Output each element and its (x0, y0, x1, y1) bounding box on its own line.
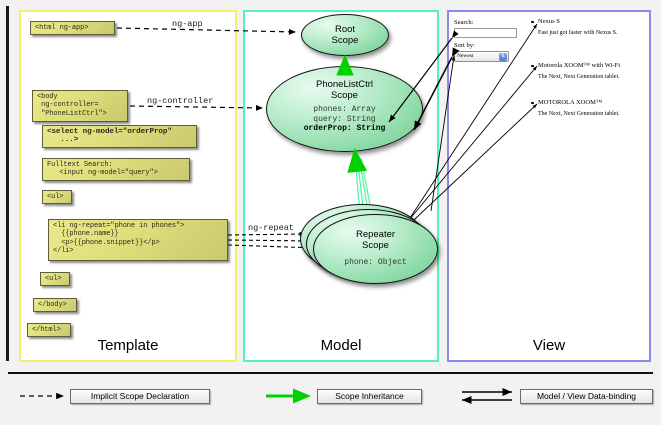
scope-prop-phone: phone: Object (314, 258, 437, 268)
scope-repeater-title-line1: Repeater (314, 215, 437, 240)
code-box-html-close: </html> (27, 323, 71, 337)
sort-by-select[interactable]: Newest ⇅ (454, 51, 509, 62)
scope-root-title-line1: Root (302, 15, 388, 35)
legend-arrow-model-view-data-binding (462, 392, 512, 400)
legend-item-implicit-scope-declaration: Implicit Scope Declaration (70, 389, 210, 404)
code-box-select: <select ng-model="orderProp" ...> (42, 125, 197, 148)
view-sort-label: Sort by: (454, 42, 475, 49)
code-box-li-ng-repeat: <li ng-repeat="phone in phones"> {{phone… (48, 219, 228, 261)
phone-list-item-0: Nexus S Fast just got faster with Nexus … (538, 18, 618, 36)
code-box-ul-close: <ul> (40, 272, 70, 286)
bullet-icon (531, 65, 534, 68)
legend-divider (8, 372, 653, 374)
scope-phonelistctrl-title-line2: Scope (267, 90, 422, 101)
code-box-body-open: <body ng-controller= "PhoneListCtrl"> (32, 90, 128, 122)
phone-snippet: The Next, Next Generation tablet. (538, 111, 620, 117)
panel-template-label: Template (21, 337, 235, 354)
view-search-label: Search: (454, 19, 474, 26)
search-input[interactable] (454, 28, 517, 38)
scope-phonelistctrl: PhoneListCtrl Scope phones: Array query:… (266, 66, 423, 152)
phone-snippet: The Next, Next Generation tablet. (538, 74, 620, 80)
legend-item-model-view-data-binding: Model / View Data-binding (520, 389, 653, 404)
phone-list-item-2: MOTOROLA XOOM™ The Next, Next Generation… (538, 99, 620, 117)
phone-list-item-1: Motorola XOOM™ with Wi-Fi The Next, Next… (538, 62, 620, 80)
panel-model-label: Model (245, 337, 437, 354)
scope-root: Root Scope (301, 14, 389, 56)
scope-prop-query: query: String (267, 115, 422, 125)
connector-label-ng-app: ng-app (172, 19, 203, 29)
chevron-updown-icon: ⇅ (499, 53, 507, 61)
connector-label-ng-repeat: ng-repeat (248, 223, 294, 233)
phone-name[interactable]: Motorola XOOM™ with Wi-Fi (538, 62, 620, 69)
diagram-root: Template <html ng-app> <body ng-controll… (0, 0, 661, 425)
phone-name[interactable]: MOTOROLA XOOM™ (538, 99, 620, 106)
legend-item-scope-inheritance: Scope Inheritance (317, 389, 422, 404)
phone-snippet: Fast just got faster with Nexus S. (538, 30, 618, 36)
panel-model: Model (243, 10, 439, 362)
left-gutter-bar (6, 6, 9, 361)
bullet-icon (531, 21, 534, 24)
bullet-icon (531, 102, 534, 105)
phone-name[interactable]: Nexus S (538, 18, 618, 25)
connector-label-ng-controller: ng-controller (147, 96, 213, 106)
code-box-body-close: </body> (33, 298, 77, 312)
code-box-ul-open: <ul> (42, 190, 72, 204)
scope-prop-phones: phones: Array (267, 105, 422, 115)
sort-by-selected-value: Newest (457, 53, 474, 59)
scope-repeater: Repeater Scope phone: Object (313, 214, 438, 284)
code-box-fulltext-search: Fulltext Search: <input ng-model="query"… (42, 158, 190, 181)
scope-root-title-line2: Scope (302, 35, 388, 46)
scope-phonelistctrl-title-line1: PhoneListCtrl (267, 67, 422, 90)
scope-repeater-title-line2: Scope (314, 240, 437, 251)
panel-view-label: View (449, 337, 649, 354)
scope-prop-orderprop: orderProp: String (267, 124, 422, 134)
code-box-html-open: <html ng-app> (30, 21, 115, 35)
